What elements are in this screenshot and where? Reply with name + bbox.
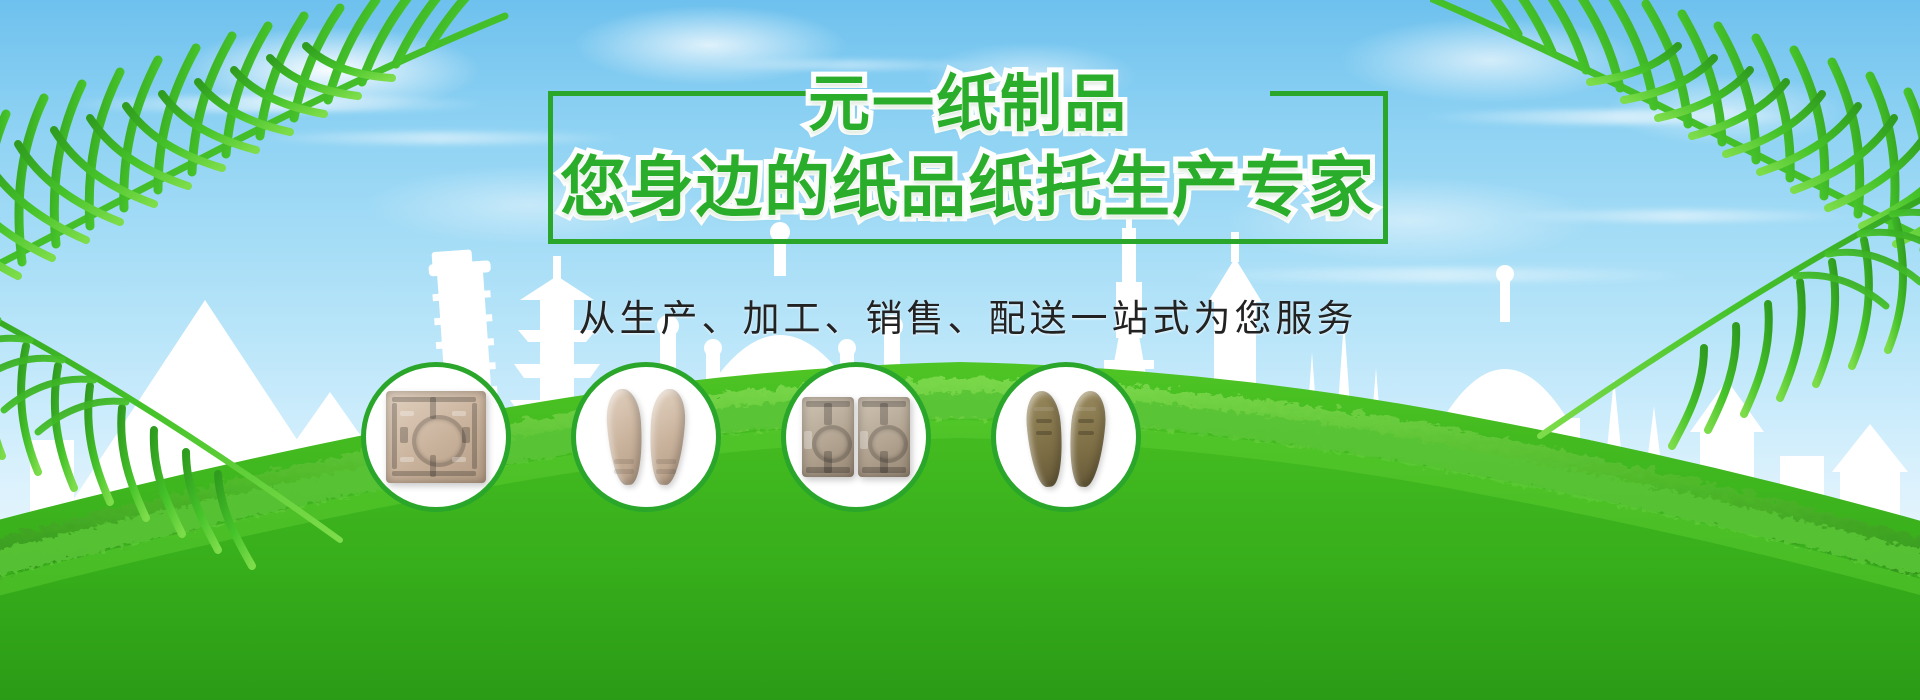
promotional-banner: 元一纸制品 您身边的纸品纸托生产专家 从生产、加工、销售、配送一站式为您服务	[0, 0, 1920, 700]
molded-pulp-dark-shoe-supports-image	[1012, 387, 1120, 487]
molded-pulp-double-tray-image	[802, 387, 910, 487]
molded-pulp-shoe-insoles-image	[592, 387, 700, 487]
molded-pulp-square-tray-image	[382, 387, 490, 487]
product-circle-molded-pulp-shoe-insoles[interactable]	[571, 362, 721, 512]
product-circle-molded-pulp-square-tray[interactable]	[361, 362, 511, 512]
product-circle-molded-pulp-dark-shoe-supports[interactable]	[991, 362, 1141, 512]
product-circle-molded-pulp-double-tray[interactable]	[781, 362, 931, 512]
product-circle-row	[0, 0, 1920, 700]
